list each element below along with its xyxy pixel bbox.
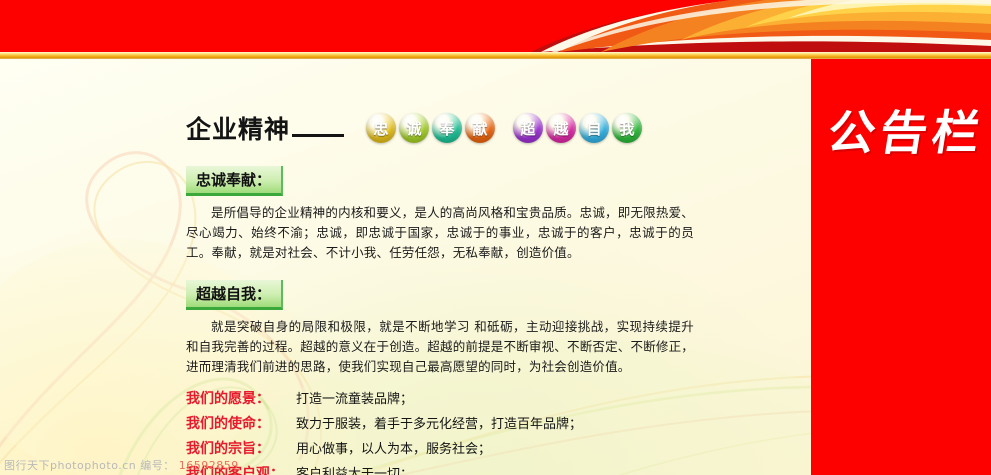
spirit-ball: 诚 xyxy=(399,113,429,143)
values-list: 我们的愿景： 打造一流童装品牌； 我们的使命： 致力于服装，着手于多元化经营，打… xyxy=(186,388,716,475)
title-row: 企业精神 忠 诚 奉 献 超 越 自 我 xyxy=(186,108,716,148)
section-surpass-self: 超越自我： 就是突破自身的局限和极限，就是不断地学习 和砥砺，主动迎接挑战，实现… xyxy=(186,262,716,376)
values-row: 我们的宗旨： 用心做事，以人为本，服务社会； xyxy=(186,438,716,458)
spirit-ball: 忠 xyxy=(366,113,396,143)
values-row: 我们的愿景： 打造一流童装品牌； xyxy=(186,388,716,408)
spirit-ball: 超 xyxy=(513,113,543,143)
values-text: 打造一流童装品牌； xyxy=(296,388,413,407)
spirit-ball: 我 xyxy=(612,113,642,143)
section-heading-chip: 超越自我： xyxy=(186,280,283,310)
section-loyalty-dedication: 忠诚奉献： 是所倡导的企业精神的内核和要义，是人的高尚风格和宝贵品质。忠诚，即无… xyxy=(186,148,716,262)
bulletin-board-title: 公告栏 xyxy=(824,94,991,163)
watermark-label: 编号： xyxy=(140,459,175,472)
values-row: 我们的客户观： 客户利益大于一切； xyxy=(186,463,716,475)
values-text: 用心做事，以人为本，服务社会； xyxy=(296,438,491,457)
content-column: 企业精神 忠 诚 奉 献 超 越 自 我 忠诚奉献： 是所倡导的企业精神的内核和… xyxy=(186,108,716,475)
spirit-ball: 献 xyxy=(465,113,495,143)
spirit-ball: 奉 xyxy=(432,113,462,143)
banner-swoosh-graphic xyxy=(531,0,991,52)
page-title: 企业精神 xyxy=(186,110,290,146)
bulletin-board-panel: 公告栏 xyxy=(811,59,991,475)
top-banner xyxy=(0,0,991,52)
watermark-number: 16592859 xyxy=(179,459,239,472)
watermark-site: 图行天下photophoto.cn xyxy=(4,459,136,472)
values-label: 我们的使命： xyxy=(186,413,296,433)
poster-canvas: 公告栏 企业精神 忠 诚 奉 献 超 越 自 我 忠诚奉献： 是所倡导的企业精神… xyxy=(0,0,991,475)
values-label: 我们的宗旨： xyxy=(186,438,296,458)
watermark: 图行天下photophoto.cn 编号： 16592859 xyxy=(4,457,239,473)
title-dash-rule xyxy=(292,134,344,137)
values-text: 客户利益大于一切； xyxy=(296,463,413,475)
section-body-text: 就是突破自身的局限和极限，就是不断地学习 和砥砺，主动迎接挑战，实现持续提升和自… xyxy=(186,317,694,376)
section-heading-chip: 忠诚奉献： xyxy=(186,166,283,196)
spirit-ball: 自 xyxy=(579,113,609,143)
values-text: 致力于服装，着手于多元化经营，打造百年品牌； xyxy=(296,413,582,432)
spirit-ball: 越 xyxy=(546,113,576,143)
values-row: 我们的使命： 致力于服装，着手于多元化经营，打造百年品牌； xyxy=(186,413,716,433)
spirit-ball-group: 忠 诚 奉 献 超 越 自 我 xyxy=(366,113,645,143)
values-label: 我们的愿景： xyxy=(186,388,296,408)
banner-gold-underline xyxy=(0,52,991,59)
section-body-text: 是所倡导的企业精神的内核和要义，是人的高尚风格和宝贵品质。忠诚，即无限热爱、尽心… xyxy=(186,203,694,262)
